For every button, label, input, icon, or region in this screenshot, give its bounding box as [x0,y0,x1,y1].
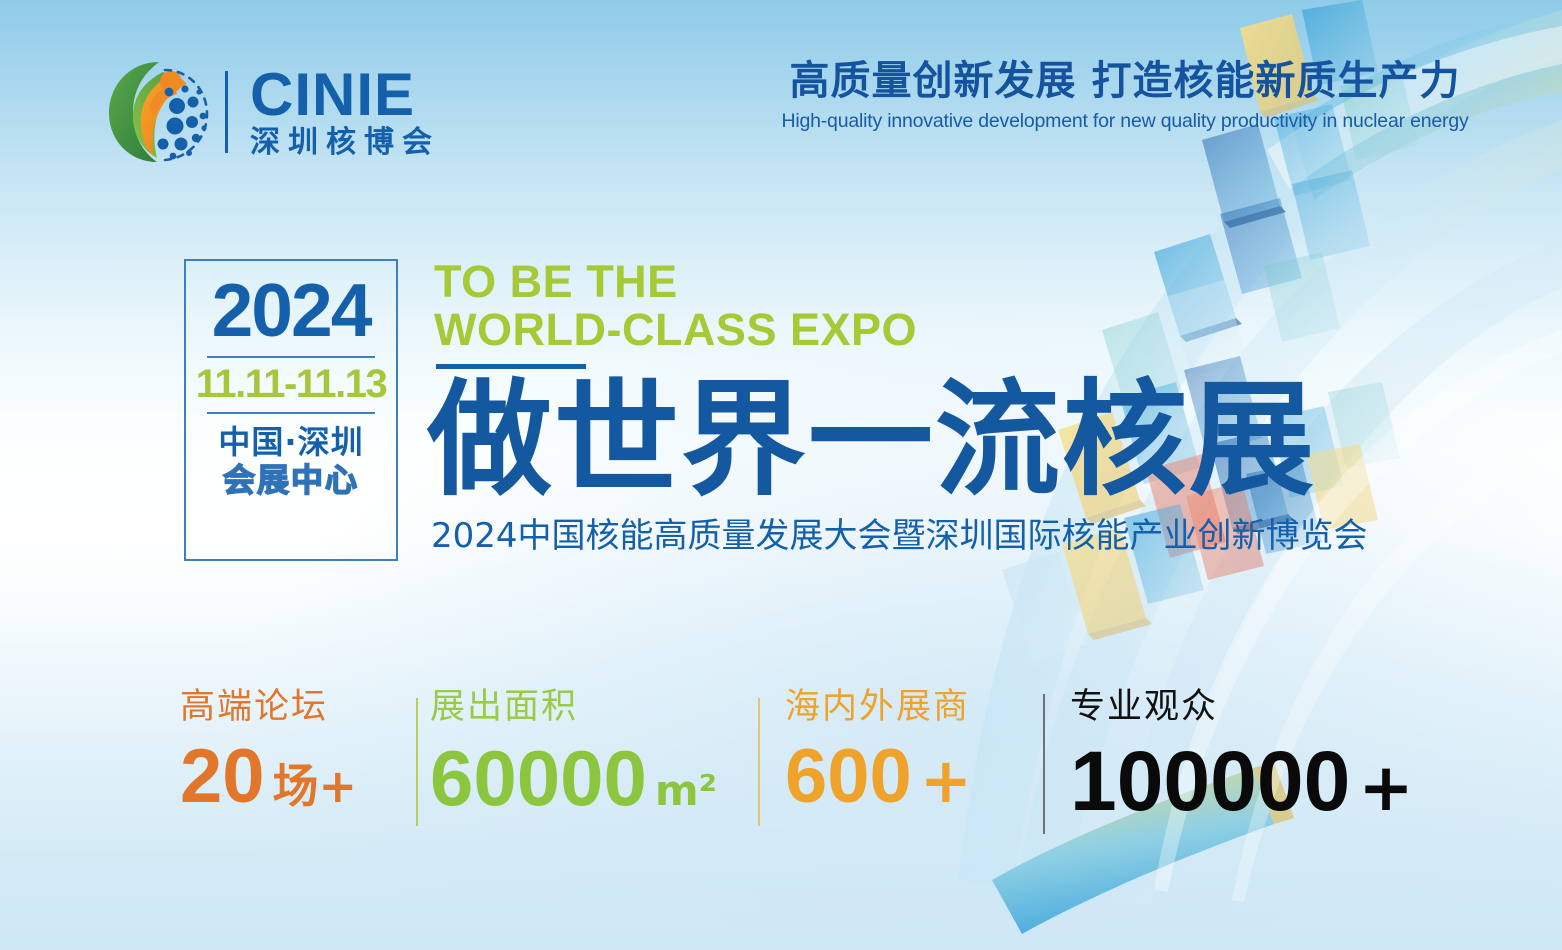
stat-value-row: 20场+ [180,739,357,815]
stat-value-row: 600+ [785,739,972,815]
stat-unit: + [920,744,972,817]
headline-english-line1: TO BE THE [434,258,917,306]
stat-number: 100000 [1070,734,1350,828]
stat-label: 海内外展商 [785,690,972,725]
stat-item: 海内外展商600+ [785,690,972,815]
stat-divider [758,698,760,826]
logo-divider [225,71,228,153]
stat-item: 展出面积60000m² [430,690,717,817]
headline-english-line2: WORLD-CLASS EXPO [434,306,917,354]
event-date-range: 11.11-11.13 [196,364,386,404]
date-rule-top [207,356,375,358]
stat-unit: m² [655,766,717,815]
logo-wordmark: CINIE 深圳核博会 [250,66,440,159]
expo-promo-banner: CINIE 深圳核博会 高质量创新发展 打造核能新质生产力 High-quali… [0,0,1562,950]
headline-english: TO BE THE WORLD-CLASS EXPO [434,258,917,354]
stat-value-row: 60000m² [430,739,717,817]
headline-subtitle: 2024中国核能高质量发展大会暨深圳国际核能产业创新博览会 [431,516,1368,557]
stat-number: 600 [785,734,912,819]
slogan-english: High-quality innovative development for … [775,110,1475,133]
stat-number: 20 [180,734,265,819]
stat-label: 高端论坛 [180,690,357,725]
stat-divider [416,698,418,826]
stat-label: 专业观众 [1070,690,1414,725]
logo-name-cn: 深圳核博会 [250,128,440,158]
slogan-chinese: 高质量创新发展 打造核能新质生产力 [775,58,1475,104]
stat-value-row: 100000+ [1070,739,1414,823]
header-slogan: 高质量创新发展 打造核能新质生产力 High-quality innovativ… [775,58,1475,133]
stat-item: 高端论坛20场+ [180,690,357,815]
stat-item: 专业观众100000+ [1070,690,1414,823]
stat-unit: 场+ [273,759,358,813]
stat-divider [1043,694,1045,834]
event-city: 中国·深圳 [218,424,363,462]
stat-number: 60000 [430,734,647,822]
cinie-leaf-globe-logo-icon [103,56,215,168]
logo-name-en: CINIE [250,66,440,125]
stat-unit: + [1358,749,1413,826]
date-rule-bottom [207,412,375,414]
event-venue: 会展中心 [223,462,359,500]
event-year: 2024 [212,273,371,348]
headline-chinese: 做世界一流核展 [427,378,1316,503]
event-date-box: 2024 11.11-11.13 中国·深圳 会展中心 [184,259,398,561]
stat-label: 展出面积 [430,690,717,725]
cinie-logo[interactable]: CINIE 深圳核博会 [103,56,440,168]
